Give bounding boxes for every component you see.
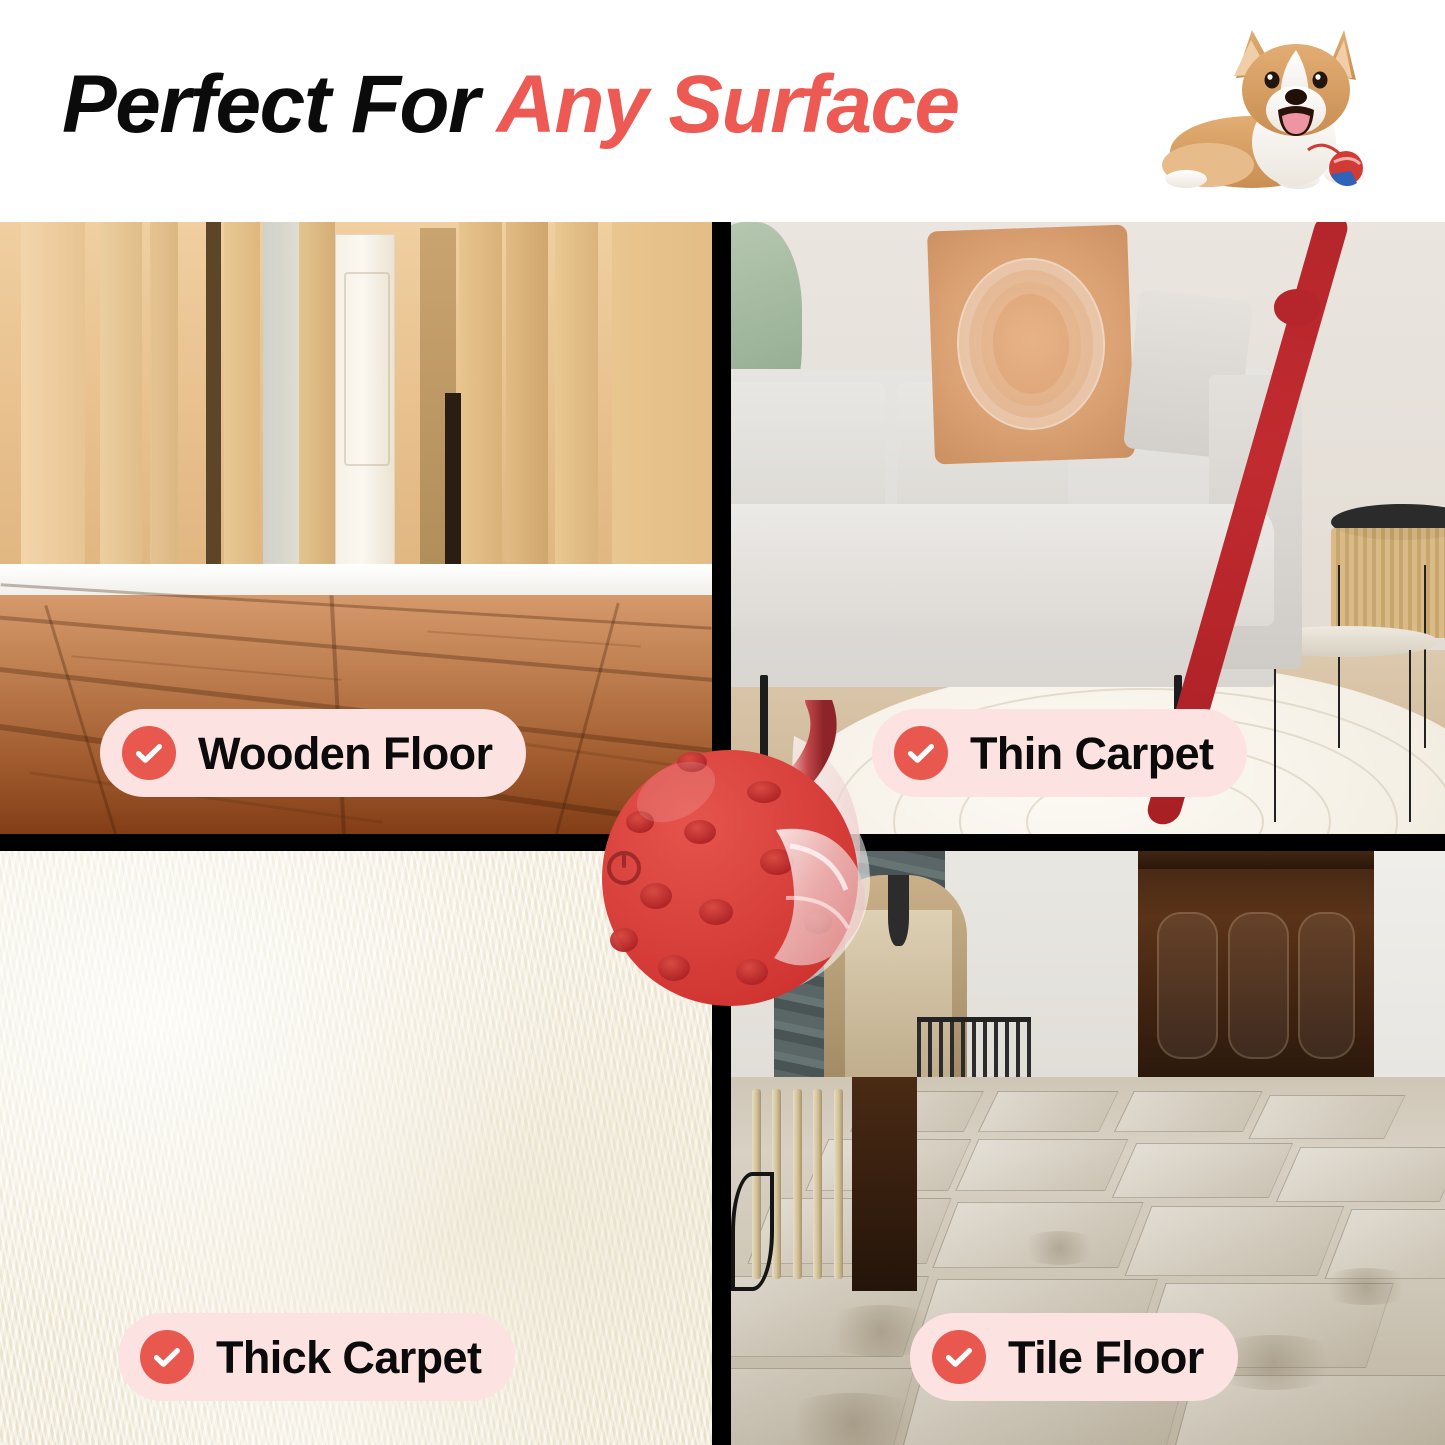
surface-badge-wooden-floor[interactable]: Wooden Floor [100, 709, 526, 797]
grid-divider-horizontal [0, 834, 1445, 851]
check-circle-icon [140, 1330, 194, 1384]
header-banner: Perfect For Any Surface [0, 0, 1445, 222]
surface-badge-label: Wooden Floor [198, 731, 492, 776]
check-circle-icon [894, 726, 948, 780]
check-circle-icon [932, 1330, 986, 1384]
surface-badge-label: Thick Carpet [216, 1335, 481, 1380]
surface-badge-label: Tile Floor [1008, 1335, 1204, 1380]
surface-photo-grid [0, 222, 1445, 1445]
product-infographic-poster: Perfect For Any Surface [0, 0, 1445, 1445]
corgi-dog-icon [1148, 22, 1394, 200]
check-circle-icon [122, 726, 176, 780]
page-title-primary: Perfect For [62, 59, 497, 150]
surface-badge-thick-carpet[interactable]: Thick Carpet [118, 1313, 515, 1401]
page-title: Perfect For Any Surface [62, 64, 959, 146]
surface-badge-label: Thin Carpet [970, 731, 1213, 776]
page-title-accent: Any Surface [497, 59, 959, 150]
surface-badge-thin-carpet[interactable]: Thin Carpet [872, 709, 1247, 797]
surface-badge-tile-floor[interactable]: Tile Floor [910, 1313, 1238, 1401]
